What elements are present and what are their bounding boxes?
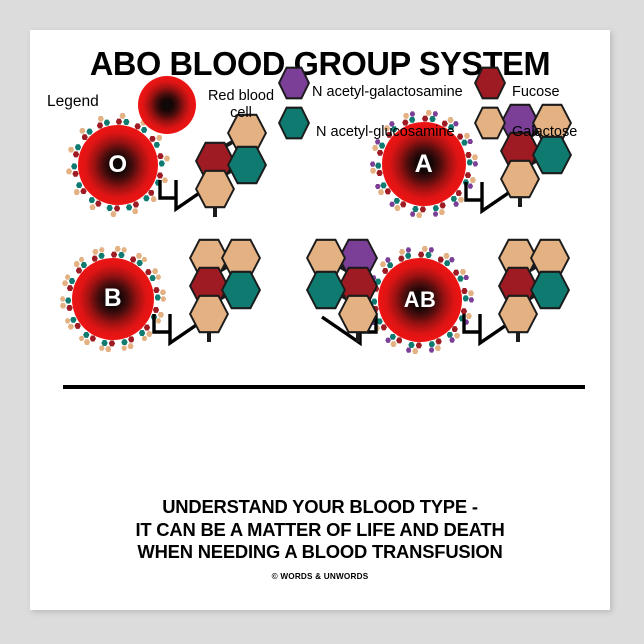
antigen-hex-galactose [500, 159, 540, 199]
membrane-antigen-sugar [422, 246, 428, 252]
membrane-antigen-sugar [416, 342, 422, 348]
antigen-hex-galactose [195, 169, 235, 209]
membrane-antigen-sugar [153, 287, 159, 293]
membrane-antigen-sugar [473, 161, 479, 167]
blood-cell-blood-type-ab: AB [378, 258, 462, 342]
poster-canvas: ABO BLOOD GROUP SYSTEM OABAB Legend Red … [30, 30, 610, 610]
membrane-antigen-sugar [62, 280, 68, 286]
blood-cell-blood-type-b: B [72, 258, 154, 340]
tagline-line-1: UNDERSTAND YOUR BLOOD TYPE - [30, 496, 610, 519]
membrane-antigen-sugar [467, 159, 473, 165]
membrane-antigen-sugar [161, 296, 167, 302]
membrane-antigen-sugar [121, 345, 127, 351]
membrane-antigen-sugar [157, 153, 163, 159]
section-divider [63, 385, 585, 389]
membrane-antigen-sugar [92, 249, 98, 255]
tagline-line-3: WHEN NEEDING A BLOOD TRANSFUSION [30, 541, 610, 564]
antigen-hex-galactose [189, 294, 229, 334]
membrane-antigen-sugar [465, 152, 471, 158]
membrane-antigen-sugar [101, 340, 107, 346]
membrane-antigen-sugar [408, 342, 414, 348]
antigen-hex-n-acetyl-glucosamine [530, 270, 570, 310]
membrane-antigen-sugar [99, 247, 105, 253]
antigen-molecule-ab-right [496, 238, 588, 366]
membrane-antigen-sugar [66, 168, 72, 174]
membrane-antigen-sugar [68, 147, 74, 153]
membrane-antigen-sugar [65, 318, 71, 324]
membrane-antigen-sugar [109, 340, 115, 346]
page-title: ABO BLOOD GROUP SYSTEM [39, 46, 602, 84]
blood-type-label: AB [378, 258, 462, 342]
membrane-antigen-sugar [406, 347, 412, 353]
membrane-antigen-sugar [89, 204, 95, 210]
membrane-antigen-sugar [429, 247, 435, 253]
membrane-antigen-sugar [410, 111, 416, 117]
legend-label: Fucose [512, 84, 560, 101]
legend-label: N acetyl-galactosamine [312, 84, 463, 101]
copyright-notice: © WORDS & UNWORDS [30, 572, 610, 581]
membrane-antigen-sugar [98, 116, 104, 122]
legend-swatch-red-blood-cell [138, 76, 196, 134]
membrane-antigen-sugar [426, 110, 432, 116]
legend-label-red-blood-cell-line-2: cell [202, 105, 280, 122]
membrane-antigen-sugar [121, 247, 127, 253]
antigen-hex-galactose [498, 294, 538, 334]
antigen-molecule-o [193, 113, 285, 241]
membrane-antigen-sugar [106, 205, 112, 211]
membrane-antigen-sugar [160, 289, 166, 295]
antigen-molecule-ab-left [288, 238, 380, 366]
membrane-antigen-sugar [467, 139, 473, 145]
membrane-antigen-sugar [372, 145, 378, 151]
membrane-antigen-sugar [119, 113, 125, 119]
membrane-antigen-sugar [116, 118, 122, 124]
membrane-antigen-sugar [127, 343, 133, 349]
membrane-antigen-sugar [164, 155, 170, 161]
antigen-hex-n-acetyl-glucosamine [306, 270, 346, 310]
antigen-hex-n-acetyl-glucosamine [532, 135, 572, 175]
membrane-antigen-sugar [399, 249, 405, 255]
membrane-antigen-sugar [412, 348, 418, 354]
membrane-antigen-sugar [121, 339, 127, 345]
membrane-antigen-sugar [115, 246, 121, 252]
membrane-antigen-sugar [111, 251, 117, 257]
membrane-antigen-sugar [420, 206, 426, 212]
membrane-antigen-sugar [429, 347, 435, 353]
legend-label: Galactose [512, 124, 577, 141]
membrane-antigen-sugar [416, 212, 422, 218]
membrane-antigen-sugar [463, 275, 469, 281]
membrane-antigen-sugar [403, 113, 409, 119]
membrane-antigen-sugar [435, 345, 441, 351]
membrane-antigen-sugar [126, 204, 132, 210]
membrane-antigen-sugar [463, 295, 469, 301]
membrane-antigen-sugar [65, 274, 71, 280]
antigen-hex-n-acetyl-glucosamine [221, 270, 261, 310]
membrane-antigen-sugar [84, 339, 90, 345]
membrane-antigen-sugar [105, 346, 111, 352]
membrane-antigen-sugar [370, 161, 376, 167]
membrane-antigen-sugar [65, 297, 71, 303]
membrane-antigen-sugar [71, 163, 77, 169]
membrane-antigen-sugar [60, 303, 66, 309]
antigen-molecule-b [187, 238, 279, 366]
membrane-antigen-sugar [375, 162, 381, 168]
legend-label: N acetyl-glucosamine [316, 124, 455, 141]
membrane-antigen-sugar [370, 168, 376, 174]
blood-cell-blood-type-o: O [78, 125, 158, 205]
membrane-antigen-sugar [132, 208, 138, 214]
membrane-antigen-sugar [433, 111, 439, 117]
membrane-antigen-sugar [99, 345, 105, 351]
membrane-antigen-sugar [406, 247, 412, 253]
membrane-antigen-sugar [156, 274, 162, 280]
membrane-antigen-sugar [439, 209, 445, 215]
tagline: UNDERSTAND YOUR BLOOD TYPE - IT CAN BE A… [30, 496, 610, 564]
blood-type-label: O [78, 125, 158, 205]
membrane-antigen-sugar [468, 290, 474, 296]
membrane-antigen-sugar [412, 206, 418, 212]
legend-heading: Legend [47, 93, 99, 110]
membrane-antigen-sugar [472, 154, 478, 160]
membrane-antigen-sugar [461, 288, 467, 294]
membrane-antigen-sugar [110, 211, 116, 217]
membrane-antigen-sugar [159, 160, 165, 166]
blood-type-label: B [72, 258, 154, 340]
membrane-antigen-sugar [422, 115, 428, 121]
tagline-line-2: IT CAN BE A MATTER OF LIFE AND DEATH [30, 519, 610, 542]
membrane-antigen-sugar [375, 184, 381, 190]
membrane-antigen-sugar [469, 297, 475, 303]
membrane-antigen-sugar [418, 251, 424, 257]
membrane-antigen-sugar [433, 211, 439, 217]
membrane-antigen-sugar [60, 296, 66, 302]
antigen-molecule-a [498, 103, 590, 231]
membrane-antigen-sugar [114, 205, 120, 211]
membrane-antigen-sugar [410, 211, 416, 217]
legend-label-red-blood-cell-line-1: Red blood [202, 88, 280, 105]
antigen-hex-n-acetyl-glucosamine [227, 145, 267, 185]
membrane-antigen-sugar [155, 294, 161, 300]
